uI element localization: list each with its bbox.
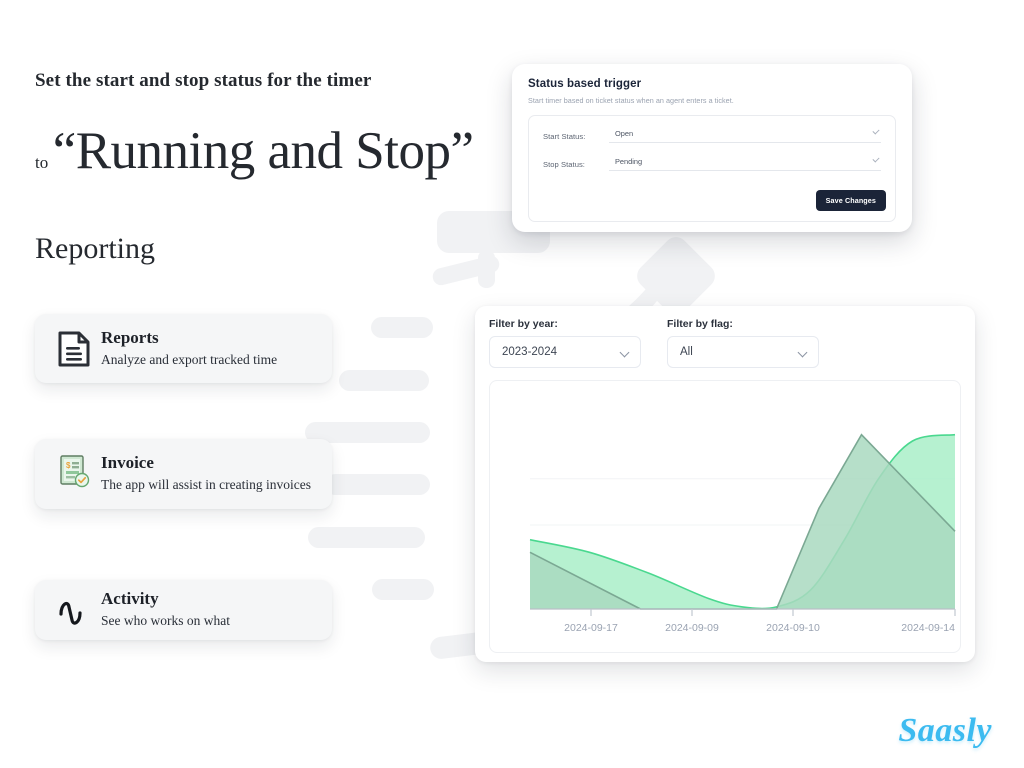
stop-status-label: Stop Status: <box>543 160 609 169</box>
headline-line-2: to “Running and Stop” <box>35 121 474 181</box>
decor-pill <box>371 317 433 338</box>
headline-block: Set the start and stop status for the ti… <box>35 70 474 181</box>
feature-text-activity: Activity See who works on what <box>97 589 230 630</box>
feature-title: Invoice <box>101 453 311 473</box>
headline-prefix: to <box>35 153 48 172</box>
save-changes-button[interactable]: Save Changes <box>816 190 886 211</box>
invoice-check-icon: $ <box>51 453 97 489</box>
filter-bar: Filter by year: 2023-2024 Filter by flag… <box>489 318 961 368</box>
document-report-icon <box>51 331 97 367</box>
start-status-label: Start Status: <box>543 132 609 141</box>
x-axis-tick-label: 2024-09-09 <box>665 622 719 634</box>
svg-text:$: $ <box>66 461 71 470</box>
feature-description: The app will assist in creating invoices <box>101 475 311 495</box>
area-chart: 2024-09-172024-09-092024-09-102024-09-14 <box>490 381 960 652</box>
filter-year-value: 2023-2024 <box>502 346 557 358</box>
status-trigger-card: Status based trigger Start timer based o… <box>512 64 912 232</box>
x-axis-tick-label: 2024-09-17 <box>564 622 618 634</box>
decor-pill <box>325 474 430 495</box>
reporting-panel: Filter by year: 2023-2024 Filter by flag… <box>475 306 975 662</box>
start-status-select[interactable]: Open <box>609 129 881 143</box>
chevron-down-icon <box>798 348 808 358</box>
filter-year-select[interactable]: 2023-2024 <box>489 336 641 368</box>
decor-pill <box>372 579 434 600</box>
filter-year-label: Filter by year: <box>489 318 641 330</box>
page-title: Reporting <box>35 232 155 266</box>
feature-title: Reports <box>101 328 277 348</box>
chevron-down-icon <box>872 127 879 134</box>
x-axis-tick-label: 2024-09-10 <box>766 622 820 634</box>
chevron-down-icon <box>872 155 879 162</box>
x-axis-tick-label: 2024-09-14 <box>901 622 955 634</box>
trigger-card-title: Status based trigger <box>528 78 896 90</box>
filter-group-year: Filter by year: 2023-2024 <box>489 318 641 368</box>
decor-pill <box>308 527 425 548</box>
feature-card-reports[interactable]: Reports Analyze and export tracked time <box>35 314 332 383</box>
feature-title: Activity <box>101 589 230 609</box>
chevron-down-icon <box>620 348 630 358</box>
stop-status-select[interactable]: Pending <box>609 157 881 171</box>
saasly-logo: Saasly <box>898 712 992 750</box>
filter-flag-select[interactable]: All <box>667 336 819 368</box>
filter-flag-label: Filter by flag: <box>667 318 819 330</box>
feature-description: Analyze and export tracked time <box>101 350 277 370</box>
start-status-row: Start Status: Open <box>543 129 881 143</box>
feature-text-invoice: Invoice The app will assist in creating … <box>97 453 311 494</box>
activity-pulse-icon <box>51 595 97 625</box>
headline-quoted-text: “Running and Stop” <box>53 122 474 180</box>
feature-card-invoice[interactable]: $ Invoice The app will assist in creatin… <box>35 439 332 509</box>
start-status-value: Open <box>615 129 633 138</box>
trigger-form: Start Status: Open Stop Status: Pending … <box>528 115 896 222</box>
feature-text-reports: Reports Analyze and export tracked time <box>97 328 277 369</box>
feature-description: See who works on what <box>101 611 230 631</box>
filter-group-flag: Filter by flag: All <box>667 318 819 368</box>
trigger-card-subtitle: Start timer based on ticket status when … <box>528 96 896 105</box>
stop-status-value: Pending <box>615 157 642 166</box>
headline-line-1: Set the start and stop status for the ti… <box>35 70 474 92</box>
chart-container: 2024-09-172024-09-092024-09-102024-09-14 <box>489 380 961 653</box>
decor-pill <box>339 370 429 391</box>
feature-card-activity[interactable]: Activity See who works on what <box>35 580 332 640</box>
filter-flag-value: All <box>680 346 693 358</box>
stop-status-row: Stop Status: Pending <box>543 157 881 171</box>
